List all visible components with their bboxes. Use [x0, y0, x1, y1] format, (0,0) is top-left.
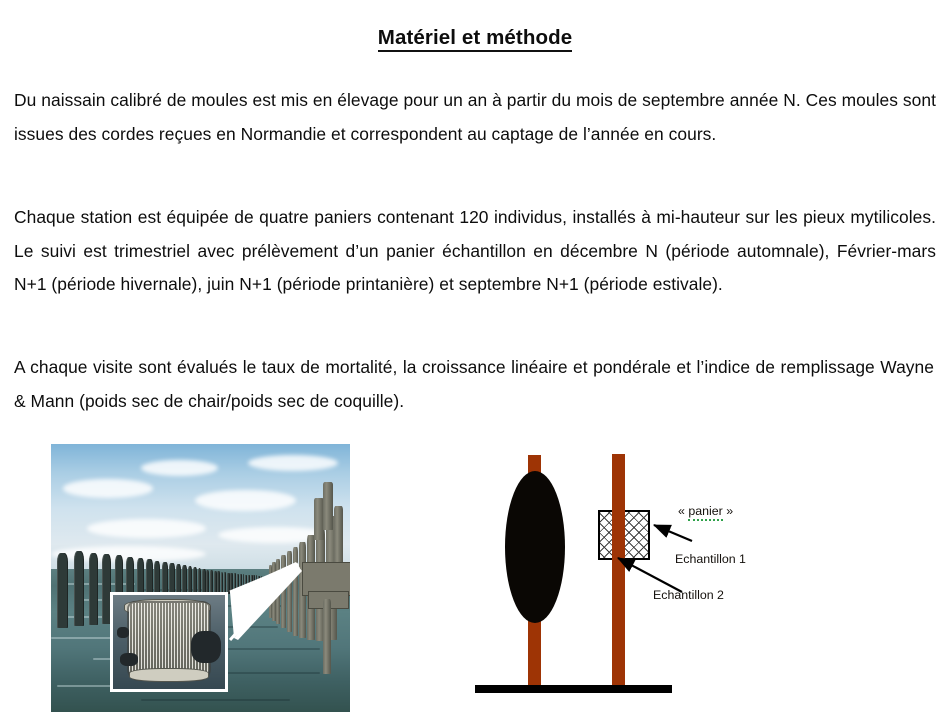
jetty-post	[323, 482, 333, 530]
mussel-pole	[251, 575, 253, 588]
mussel-pole	[261, 576, 262, 587]
mussel-mass-shape	[505, 471, 565, 623]
diagram-pole-right	[612, 454, 625, 693]
wave-line	[141, 699, 291, 701]
label-echantillon-2: Echantillon 2	[653, 588, 724, 602]
basket-side-shadow	[117, 627, 128, 638]
mussel-pole	[234, 573, 236, 592]
page-title-text: Matériel et méthode	[378, 26, 572, 52]
ground-line	[475, 685, 672, 693]
paragraph-3: A chaque visite sont évalués le taux de …	[14, 351, 934, 418]
label-panier: « panier »	[678, 504, 733, 518]
jetty-post	[293, 547, 299, 635]
mussel-pole	[245, 575, 247, 589]
mussel-pole	[57, 553, 68, 628]
jetty-post	[269, 565, 272, 619]
basket-shadow	[191, 631, 220, 663]
cloud-shape	[248, 455, 338, 471]
mussel-pole	[237, 574, 239, 591]
schematic-diagram: « panier » Echantillon 1 Echantillon 2	[460, 440, 930, 712]
jetty-post	[276, 559, 280, 623]
mussel-pole	[89, 553, 99, 625]
jetty-post	[323, 599, 331, 674]
label-echantillon-1: Echantillon 1	[675, 552, 746, 566]
label-panier-word: panier	[688, 504, 722, 521]
page-title: Matériel et méthode	[0, 26, 950, 50]
paragraph-1: Du naissain calibré de moules est mis en…	[14, 84, 936, 151]
mussel-pole	[240, 574, 242, 590]
wave-line	[212, 648, 320, 650]
mussel-pole	[227, 573, 229, 594]
cloud-shape	[63, 479, 153, 498]
mussel-pole	[230, 573, 232, 593]
basket-side-shadow	[120, 653, 138, 666]
cloud-shape	[195, 490, 297, 511]
basket-bottom-rim	[129, 668, 209, 681]
mussel-pole	[74, 551, 84, 626]
arrow-echantillon-2	[618, 558, 682, 592]
jetty-post	[281, 555, 285, 627]
pole-over-basket	[612, 508, 625, 562]
paragraph-2: Chaque station est équipée de quatre pan…	[14, 201, 936, 302]
mussel-pole	[248, 575, 250, 588]
cloud-shape	[87, 519, 207, 538]
mussel-pole	[258, 576, 259, 587]
mussel-pole	[253, 575, 254, 587]
jetty-post	[272, 562, 276, 621]
photo-inset-basket	[110, 592, 228, 692]
jetty-post	[287, 551, 292, 631]
arrow-panier	[654, 525, 692, 541]
